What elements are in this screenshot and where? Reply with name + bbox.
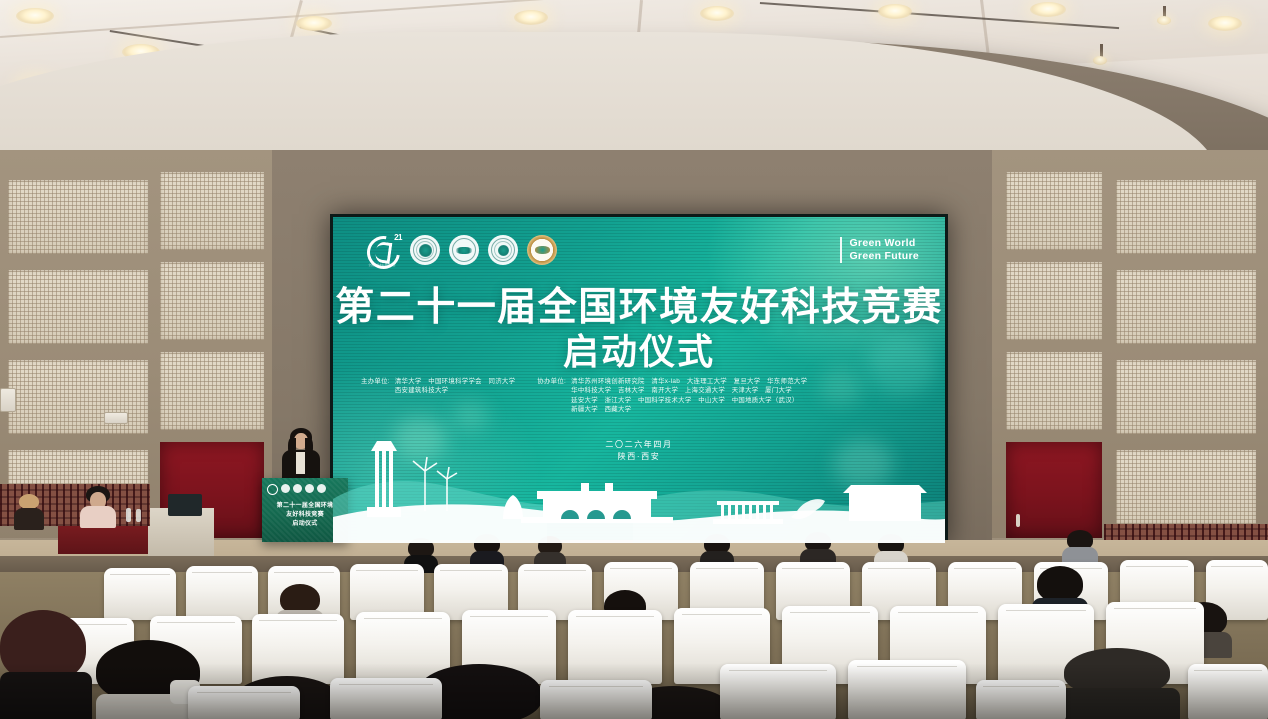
host-line: 西安建筑科技大学 <box>395 386 515 395</box>
host-label: 主办单位: <box>361 377 390 415</box>
host-organizers: 主办单位: 清华大学 中国环境科学学会 同济大学 西安建筑科技大学 <box>361 377 515 415</box>
seat <box>186 566 258 620</box>
right-wall <box>992 150 1268 590</box>
water-bottle <box>136 509 141 522</box>
podium-logo-row <box>267 484 326 495</box>
competition-main-logo-icon <box>267 484 278 495</box>
title-line-2: 启动仪式 <box>333 331 945 373</box>
screen-logo-row: 21 全国环境友好科技竞赛 <box>367 235 557 265</box>
monitor <box>168 494 202 516</box>
co-organizer-line: 延安大学 浙江大学 中国科学技术大学 中山大学 中国地质大学（武汉） <box>571 396 807 405</box>
edition-badge: 21 <box>394 233 402 242</box>
podium-banner-line: 第二十一届全国环境 <box>262 502 348 511</box>
competition-main-logo-icon: 21 全国环境友好科技竞赛 <box>367 235 401 265</box>
logo-caption: 全国环境友好科技竞赛 <box>367 263 397 267</box>
tongji-university-seal-icon <box>488 235 518 265</box>
co-organizer-line: 华中科技大学 吉林大学 南开大学 上海交通大学 天津大学 厦门大学 <box>571 386 807 395</box>
event-location: 陕西·西安 <box>333 451 945 463</box>
green-world-green-future-tagline: Green World Green Future <box>840 237 919 263</box>
seat <box>104 568 176 620</box>
tsinghua-university-seal-icon <box>281 484 290 493</box>
co-organizer-line: 新疆大学 西藏大学 <box>571 405 807 414</box>
china-environmental-science-society-seal-icon <box>449 235 479 265</box>
wall-speaker <box>104 412 128 424</box>
co-organizer-lines: 清华苏州环境创新研究院 清华x-lab 大连理工大学 复旦大学 华东师范大学 华… <box>571 377 807 415</box>
xian-university-architecture-technology-seal-icon <box>527 235 557 265</box>
head-table-staff <box>14 494 44 528</box>
podium-banner-line: 启动仪式 <box>262 520 348 529</box>
xian-university-architecture-technology-seal-icon <box>317 484 326 493</box>
tongji-university-seal-icon <box>305 484 314 493</box>
host-line: 清华大学 中国环境科学学会 同济大学 <box>395 377 515 386</box>
door-handle[interactable] <box>1016 514 1020 527</box>
co-organizer-label: 协办单位: <box>537 377 566 415</box>
china-environmental-science-society-seal-icon <box>293 484 302 493</box>
tsinghua-university-seal-icon <box>410 235 440 265</box>
organizers-block: 主办单位: 清华大学 中国环境科学学会 同济大学 西安建筑科技大学 协办单位: … <box>361 377 921 415</box>
host-lines: 清华大学 中国环境科学学会 同济大学 西安建筑科技大学 <box>395 377 515 415</box>
tagline-line-1: Green World <box>849 237 919 250</box>
foreground-shadow <box>0 663 1268 719</box>
screen-title: 第二十一届全国环境友好科技竞赛 启动仪式 <box>333 285 945 373</box>
conference-hall-photo: 21 全国环境友好科技竞赛 Green World G <box>0 0 1268 719</box>
co-organizer-line: 清华苏州环境创新研究院 清华x-lab 大连理工大学 复旦大学 华东师范大学 <box>571 377 807 386</box>
podium-banner-line: 友好科技竞赛 <box>262 511 348 520</box>
event-date-location: 二〇二六年四月 陕西·西安 <box>333 439 945 463</box>
title-line-1: 第二十一届全国环境友好科技竞赛 <box>333 285 945 331</box>
tagline-line-2: Green Future <box>849 250 919 263</box>
head-table-staff <box>78 486 118 526</box>
event-date: 二〇二六年四月 <box>333 439 945 451</box>
co-organizers: 协办单位: 清华苏州环境创新研究院 清华x-lab 大连理工大学 复旦大学 华东… <box>537 377 807 415</box>
right-red-door[interactable] <box>1006 442 1102 538</box>
led-screen: 21 全国环境友好科技竞赛 Green World G <box>330 214 948 546</box>
presenter <box>277 428 323 484</box>
water-bottle <box>126 508 131 522</box>
wall-speaker <box>0 388 16 412</box>
podium-banner-text: 第二十一届全国环境 友好科技竞赛 启动仪式 <box>262 502 348 529</box>
